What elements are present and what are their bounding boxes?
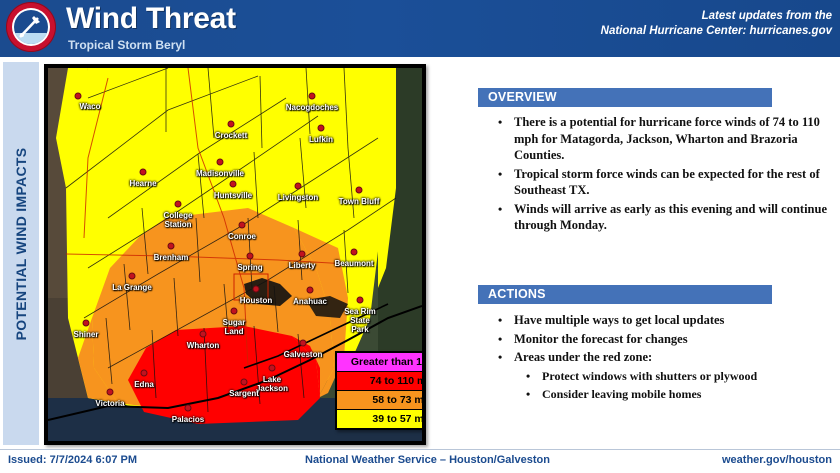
map-city-dot <box>217 159 224 166</box>
map-city-dot <box>175 201 182 208</box>
map-city-dot <box>356 187 363 194</box>
map-city-dot <box>141 370 148 377</box>
bullet-item: Monitor the forecast for changes <box>484 331 836 348</box>
footer-website-url[interactable]: weather.gov/houston <box>722 454 832 466</box>
map-city-dot <box>241 379 248 386</box>
wind-threat-map[interactable]: WacoCrockettNacogdochesLufkinHearneMadis… <box>44 64 426 445</box>
map-city-dot <box>309 93 316 100</box>
actions-bullet-list: Have multiple ways to get local updatesM… <box>484 312 836 405</box>
map-city-dot <box>107 389 114 396</box>
bullet-item: Consider leaving mobile homes <box>484 386 836 403</box>
map-city-dot <box>231 308 238 315</box>
map-city-dot <box>247 253 254 260</box>
actions-heading: ACTIONS <box>478 285 772 304</box>
map-city-dot <box>300 340 307 347</box>
map-city-dot <box>185 405 192 412</box>
map-city-dot <box>75 93 82 100</box>
bullet-item: Protect windows with shutters or plywood <box>484 368 836 385</box>
bullet-item: Tropical storm force winds can be expect… <box>484 166 836 199</box>
map-city-dot <box>200 331 207 338</box>
bullet-item: Areas under the red zone: <box>484 349 836 366</box>
bullet-item: There is a potential for hurricane force… <box>484 114 836 164</box>
header-source-line2: National Hurricane Center: hurricanes.go… <box>601 24 832 39</box>
legend-row: 58 to 73 mph <box>337 391 426 410</box>
overview-heading: OVERVIEW <box>478 88 772 107</box>
header-source-line1: Latest updates from the <box>601 9 832 24</box>
map-city-dot <box>168 243 175 250</box>
map-city-dot <box>228 121 235 128</box>
page-footer: Issued: 7/7/2024 6:07 PM National Weathe… <box>0 450 840 473</box>
map-city-dot <box>307 287 314 294</box>
map-city-dot <box>230 181 237 188</box>
sidebar-label: POTENTIAL WIND IMPACTS <box>13 52 29 436</box>
page-header: Wind Threat Tropical Storm Beryl Latest … <box>0 0 840 57</box>
footer-office-name: National Weather Service – Houston/Galve… <box>305 454 550 466</box>
bullet-item: Have multiple ways to get local updates <box>484 312 836 329</box>
map-city-dot <box>351 249 358 256</box>
map-legend: Greater than 110 mph74 to 110 mph58 to 7… <box>335 351 426 430</box>
footer-issued-time: Issued: 7/7/2024 6:07 PM <box>8 454 137 466</box>
map-city-dot <box>299 251 306 258</box>
map-city-dot <box>129 273 136 280</box>
section-sidebar: POTENTIAL WIND IMPACTS <box>3 62 39 445</box>
national-weather-service-seal-icon <box>3 1 59 56</box>
map-city-dot <box>140 169 147 176</box>
page-subtitle: Tropical Storm Beryl <box>68 38 185 52</box>
legend-row: 39 to 57 mph <box>337 410 426 428</box>
bullet-item: Winds will arrive as early as this eveni… <box>484 201 836 234</box>
map-city-dot <box>83 320 90 327</box>
map-city-dot <box>318 125 325 132</box>
map-city-dot <box>295 183 302 190</box>
page-title: Wind Threat <box>66 2 236 36</box>
legend-row: Greater than 110 mph <box>337 353 426 372</box>
lightning-bolt-icon <box>16 13 44 41</box>
header-source-note: Latest updates from the National Hurrica… <box>601 9 832 39</box>
map-city-dot <box>269 365 276 372</box>
map-city-dot <box>239 222 246 229</box>
overview-bullet-list: There is a potential for hurricane force… <box>484 114 836 236</box>
map-city-dot <box>253 286 260 293</box>
legend-row: 74 to 110 mph <box>337 372 426 391</box>
map-city-dot <box>357 297 364 304</box>
